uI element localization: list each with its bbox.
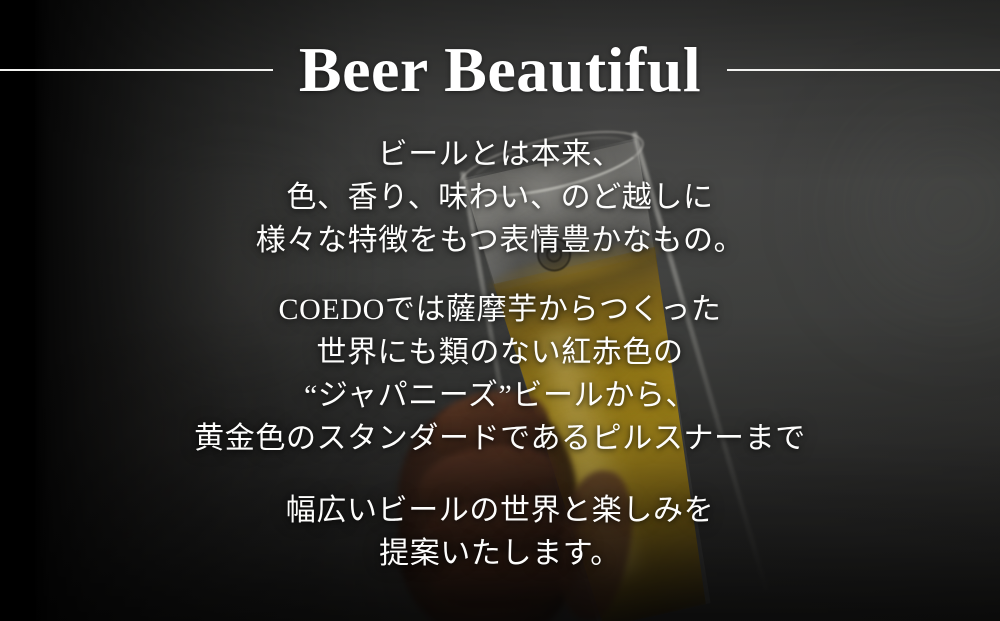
closing-paragraph: 幅広いビールの世界と楽しみを 提案いたします。 <box>0 489 1000 575</box>
product-paragraph: COEDOでは薩摩芋からつくった 世界にも類のない紅赤色の “ジャパニーズ”ビー… <box>0 288 1000 460</box>
hero-content: Beer Beautiful ビールとは本来、 色、香り、味わい、のど越しに 様… <box>0 0 1000 621</box>
title-rule-right <box>727 69 1000 71</box>
beer-beautiful-hero: Beer Beautiful ビールとは本来、 色、香り、味わい、のど越しに 様… <box>0 0 1000 621</box>
body-copy: ビールとは本来、 色、香り、味わい、のど越しに 様々な特徴をもつ表情豊かなもの。… <box>0 133 1000 575</box>
title-rule-left <box>0 69 273 71</box>
page-title: Beer Beautiful <box>273 38 727 102</box>
title-row: Beer Beautiful <box>0 24 1000 116</box>
intro-paragraph: ビールとは本来、 色、香り、味わい、のど越しに 様々な特徴をもつ表情豊かなもの。 <box>0 133 1000 262</box>
